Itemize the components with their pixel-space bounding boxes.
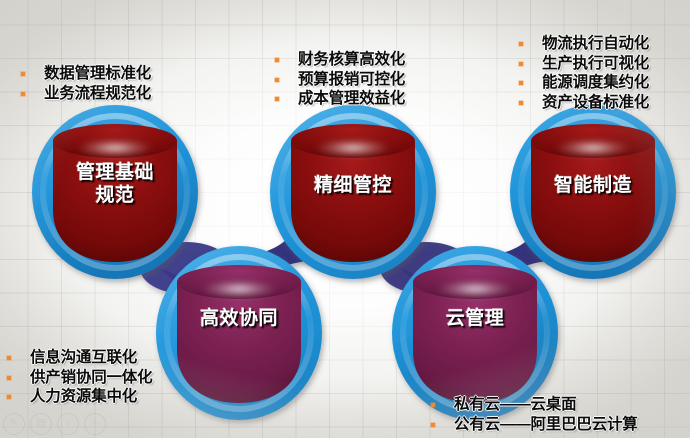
node-collab-core (177, 282, 301, 403)
bullet-item: 公有云——阿里巴巴云计算 (424, 415, 638, 435)
bullet-item: 人力资源集中化 (0, 387, 152, 407)
node-smart-core (531, 141, 655, 262)
node-cloud-management[interactable] (392, 246, 558, 420)
bullet-item: 物流执行自动化 (512, 34, 649, 54)
bullet-item: 供产销协同一体化 (0, 368, 152, 388)
node-mgmt-core (53, 141, 177, 262)
node-fine-control[interactable] (270, 105, 436, 279)
bullet-item: 私有云——云桌面 (424, 395, 638, 415)
bullet-item: 业务流程规范化 (14, 84, 151, 104)
bullet-group-efficient-collaboration: 信息沟通互联化 供产销协同一体化 人力资源集中化 (0, 348, 152, 407)
edit-pencil-icon[interactable]: ✎ (3, 413, 25, 435)
bullet-item: 信息沟通互联化 (0, 348, 152, 368)
bullet-group-smart-manufacturing: 物流执行自动化 生产执行可视化 能源调度集约化 资产设备标准化 (512, 34, 649, 112)
bullet-item: 成本管理效益化 (268, 89, 405, 109)
node-fine-core (291, 141, 415, 262)
bullet-item: 预算报销可控化 (268, 70, 405, 90)
node-mgmt-base-spec[interactable] (32, 105, 198, 279)
more-options-icon[interactable]: ⋯ (84, 413, 106, 435)
bullet-item: 财务核算高效化 (268, 50, 405, 70)
layout-icon[interactable]: ▤ (30, 413, 52, 435)
node-cloud-core (413, 282, 537, 403)
watermark-toolbar: ✎ ▤ ⌕ ⋯ (3, 413, 106, 435)
diagram-canvas: 管理基础 规范 精细管控 智能制造 高效协同 云管理 数据管理标准化 业务流程规… (0, 0, 690, 438)
bullet-group-cloud-management: 私有云——云桌面 公有云——阿里巴巴云计算 (424, 395, 638, 434)
search-icon[interactable]: ⌕ (57, 413, 79, 435)
bullet-group-fine-control: 财务核算高效化 预算报销可控化 成本管理效益化 (268, 50, 405, 109)
bullet-item: 能源调度集约化 (512, 73, 649, 93)
bullet-item: 数据管理标准化 (14, 64, 151, 84)
node-efficient-collaboration[interactable] (156, 246, 322, 420)
bullet-item: 资产设备标准化 (512, 93, 649, 113)
bullet-item: 生产执行可视化 (512, 54, 649, 74)
node-smart-manufacturing[interactable] (510, 105, 676, 279)
bullet-group-mgmt-base-spec: 数据管理标准化 业务流程规范化 (14, 64, 151, 103)
